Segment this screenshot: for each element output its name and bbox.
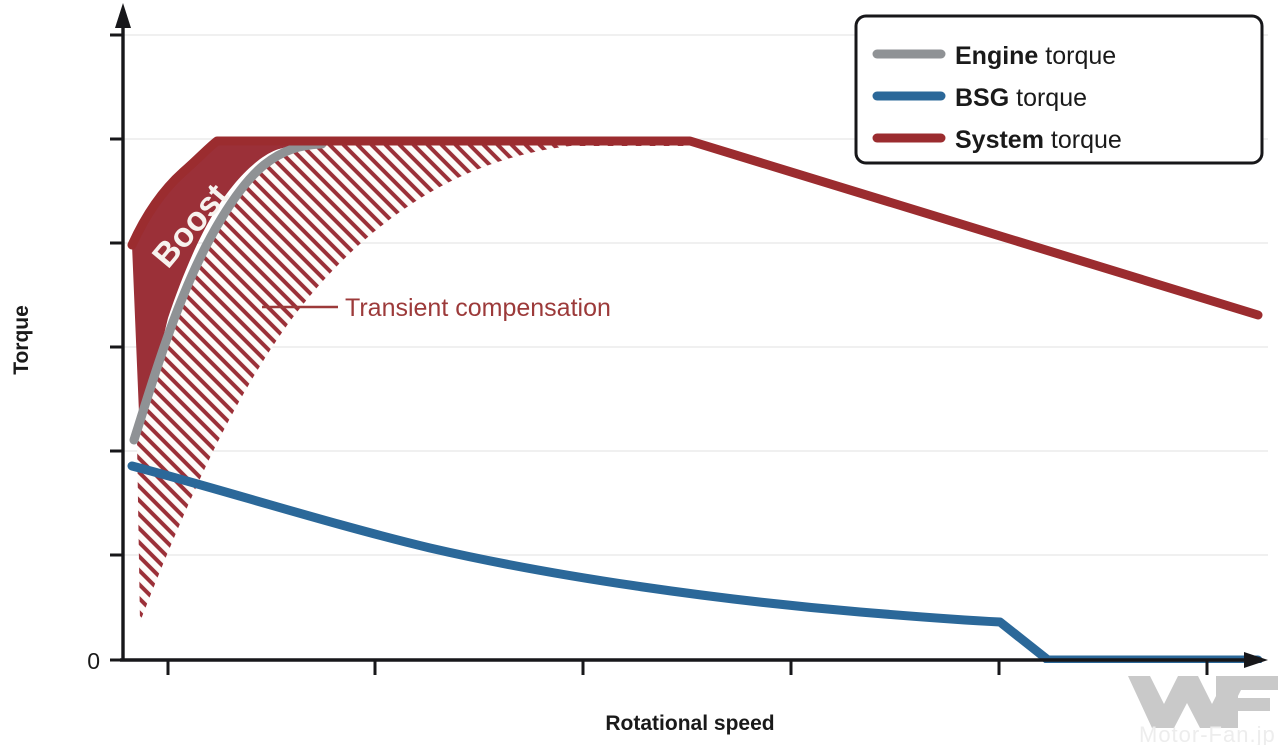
- series-bsg-torque: [132, 466, 1258, 660]
- legend-label-engine: Engine torque: [955, 42, 1116, 70]
- torque-chart: 0 Torque Rotational speed Boost Transien…: [0, 0, 1279, 745]
- legend-label-engine-rest: torque: [1038, 42, 1116, 70]
- watermark: Motor-Fan.jp: [1128, 676, 1278, 745]
- legend-label-system-lead: System: [955, 126, 1044, 154]
- legend-label-engine-lead: Engine: [955, 42, 1038, 70]
- y-axis-title: Torque: [10, 305, 33, 375]
- legend-label-bsg: BSG torque: [955, 84, 1087, 112]
- transient-compensation-annotation: Transient compensation: [262, 294, 611, 322]
- transient-compensation-label: Transient compensation: [345, 294, 611, 322]
- mf-logo-icon: [1128, 676, 1278, 728]
- legend-label-system: System torque: [955, 126, 1122, 154]
- x-axis-title: Rotational speed: [605, 712, 774, 735]
- watermark-text: Motor-Fan.jp: [1139, 722, 1276, 745]
- legend-label-bsg-rest: torque: [1009, 84, 1087, 112]
- chart-canvas: 0 Torque Rotational speed Boost Transien…: [0, 0, 1279, 745]
- y-axis-zero-label: 0: [87, 648, 100, 674]
- legend-label-bsg-lead: BSG: [955, 84, 1009, 112]
- legend-label-system-rest: torque: [1044, 126, 1122, 154]
- legend: Engine torque BSG torque System torque: [856, 16, 1262, 163]
